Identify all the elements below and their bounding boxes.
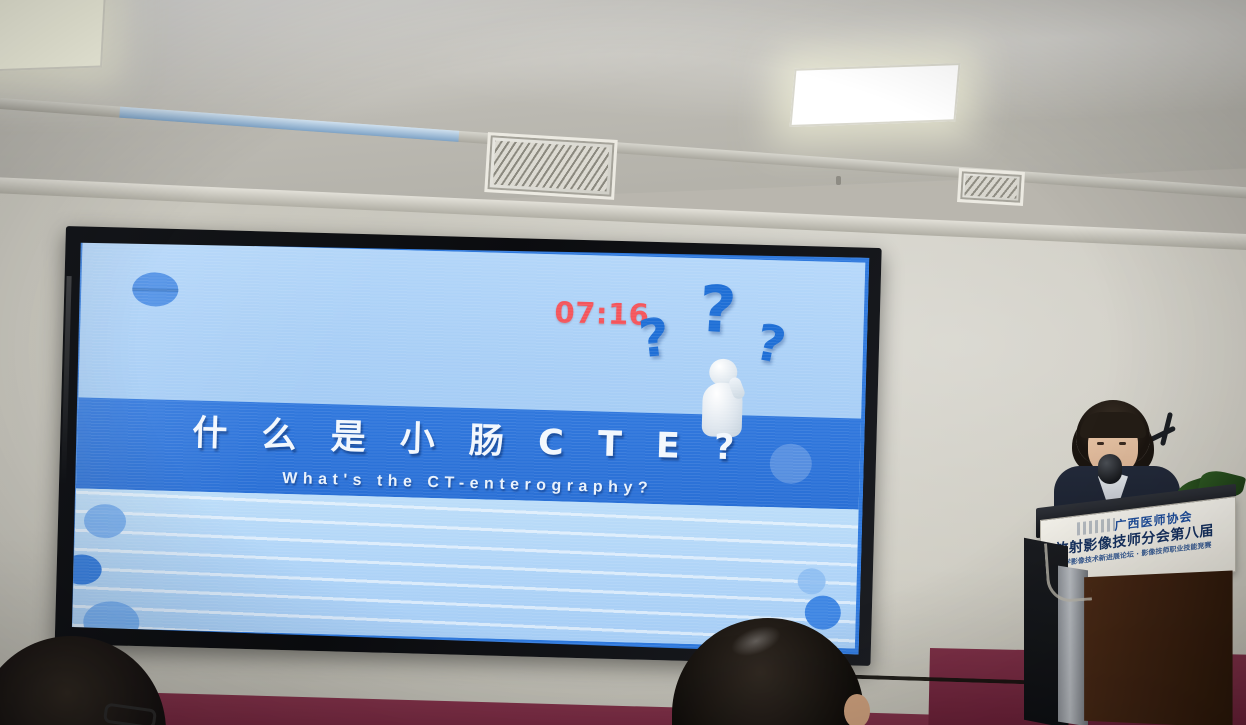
ceiling-light-left [0, 0, 106, 73]
vent-fins [493, 141, 609, 192]
screen-surface[interactable]: 07:16 ? ? ? 什 么 是 小 肠 C T E ? What's the… [67, 236, 869, 654]
presentation-room-photo: 07:16 ? ? ? 什 么 是 小 肠 C T E ? What's the… [0, 0, 1246, 725]
question-mark-icon: ? [751, 313, 791, 376]
podium-base [1084, 570, 1232, 725]
slide-frame: 07:16 ? ? ? 什 么 是 小 肠 C T E ? What's the… [67, 236, 869, 654]
audience-ear [844, 694, 870, 725]
question-mark-icon: ? [636, 307, 673, 370]
slide-canvas: 07:16 ? ? ? 什 么 是 小 肠 C T E ? What's the… [72, 241, 865, 648]
ceiling-fixture-dot [836, 176, 841, 185]
speaker-fringe [1080, 412, 1146, 438]
podium-area: 广西医师协会 放射影像技师分会第八届 医学影像技术新进展论坛 · 影像技师职业技… [1024, 392, 1246, 725]
ceiling-light-right [790, 63, 961, 127]
question-mark-icon: ? [697, 272, 739, 348]
air-vent-right [957, 168, 1025, 206]
speaker-eye-left [1097, 442, 1104, 445]
handheld-microphone-icon [1098, 454, 1122, 484]
speaker-eye-right [1119, 442, 1126, 445]
presentation-screen[interactable]: 07:16 ? ? ? 什 么 是 小 肠 C T E ? What's the… [55, 226, 882, 666]
air-vent-center [484, 132, 617, 200]
vent-fins [964, 175, 1017, 198]
